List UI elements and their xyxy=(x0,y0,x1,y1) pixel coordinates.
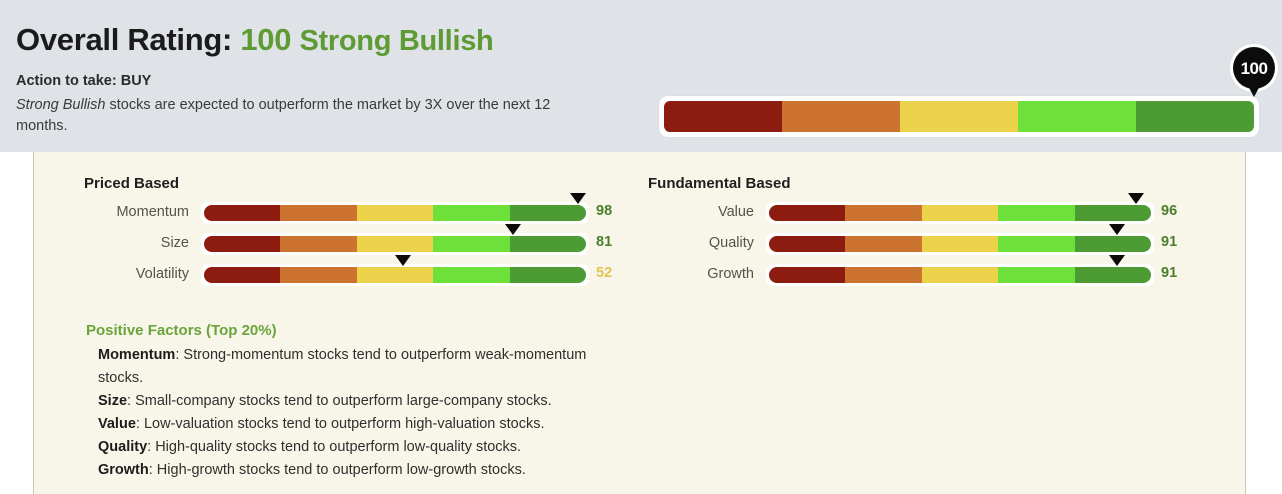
gauge-segment-1 xyxy=(664,101,782,132)
overall-gauge-track xyxy=(664,101,1254,132)
overall-rating-gauge: 100 xyxy=(659,96,1259,137)
rating-description: Strong Bullish stocks are expected to ou… xyxy=(16,95,576,137)
fundamental-based-section-title: Fundamental Based xyxy=(648,175,791,192)
header-band: Overall Rating: 100 Strong Bullish Actio… xyxy=(0,0,1282,152)
factor-bar-value xyxy=(769,205,1151,221)
factor-segment-4 xyxy=(433,236,509,252)
factor-segment-4 xyxy=(998,205,1074,221)
positive-factor-name: Quality xyxy=(98,439,147,455)
factor-segment-5 xyxy=(1075,205,1151,221)
rating-panel: Overall Rating: 100 Strong Bullish Actio… xyxy=(0,0,1282,494)
overall-rating-prefix: Overall Rating: xyxy=(16,22,232,57)
factor-bar-growth xyxy=(769,267,1151,283)
positive-factors-list: Momentum: Strong-momentum stocks tend to… xyxy=(86,344,626,482)
positive-factor-item: Momentum: Strong-momentum stocks tend to… xyxy=(86,344,626,390)
title-block: Overall Rating: 100 Strong Bullish Actio… xyxy=(16,20,636,137)
factor-segment-5 xyxy=(510,267,586,283)
factor-label-value: Value xyxy=(718,204,754,220)
factor-segment-5 xyxy=(510,236,586,252)
action-to-take: Action to take: BUY xyxy=(16,71,636,91)
factor-segment-2 xyxy=(845,236,921,252)
factor-segment-3 xyxy=(922,267,998,283)
factor-segment-1 xyxy=(769,267,845,283)
positive-factor-text: : High-quality stocks tend to outperform… xyxy=(147,439,521,455)
factor-segment-3 xyxy=(357,267,433,283)
body-panel: Priced Based Fundamental Based Momentum9… xyxy=(33,152,1246,494)
factor-row: Volatility52 xyxy=(64,264,659,288)
factor-segment-4 xyxy=(433,205,509,221)
factor-score-size: 81 xyxy=(596,234,612,250)
positive-factor-item: Value: Low-valuation stocks tend to outp… xyxy=(86,413,626,436)
positive-factor-text: : High-growth stocks tend to outperform … xyxy=(149,462,526,478)
factor-score-volatility: 52 xyxy=(596,265,612,281)
factor-marker-value xyxy=(1128,193,1144,204)
positive-factor-item: Size: Small-company stocks tend to outpe… xyxy=(86,390,626,413)
priced-based-section-title: Priced Based xyxy=(84,175,179,192)
factor-segment-2 xyxy=(280,205,356,221)
factor-segment-3 xyxy=(922,205,998,221)
positive-factor-item: Quality: High-quality stocks tend to out… xyxy=(86,436,626,459)
factor-segment-4 xyxy=(433,267,509,283)
positive-factors-title: Positive Factors (Top 20%) xyxy=(86,322,626,339)
positive-factor-name: Size xyxy=(98,393,127,409)
badge-disc: 100 xyxy=(1233,47,1275,89)
factor-score-growth: 91 xyxy=(1161,265,1177,281)
factor-row: Quality91 xyxy=(629,233,1224,257)
factor-score-momentum: 98 xyxy=(596,203,612,219)
factor-row: Momentum98 xyxy=(64,202,659,226)
factor-row: Value96 xyxy=(629,202,1224,226)
gauge-segment-3 xyxy=(900,101,1018,132)
factor-segment-2 xyxy=(845,205,921,221)
factor-label-quality: Quality xyxy=(709,235,754,251)
factor-label-growth: Growth xyxy=(707,266,754,282)
factor-bar-volatility xyxy=(204,267,586,283)
positive-factor-name: Growth xyxy=(98,462,149,478)
factor-marker-growth xyxy=(1109,255,1125,266)
factor-label-size: Size xyxy=(161,235,189,251)
factor-segment-2 xyxy=(845,267,921,283)
overall-rating-label: Strong Bullish xyxy=(299,25,493,57)
factor-segment-3 xyxy=(357,205,433,221)
factor-segment-2 xyxy=(280,236,356,252)
positive-factors-block: Positive Factors (Top 20%) Momentum: Str… xyxy=(86,322,626,482)
positive-factor-text: : Small-company stocks tend to outperfor… xyxy=(127,393,552,409)
factor-bar-momentum xyxy=(204,205,586,221)
factor-row: Size81 xyxy=(64,233,659,257)
factor-segment-4 xyxy=(998,236,1074,252)
rating-description-emphasis: Strong Bullish xyxy=(16,97,105,113)
factor-segment-3 xyxy=(357,236,433,252)
factor-bar-quality xyxy=(769,236,1151,252)
gauge-segment-5 xyxy=(1136,101,1254,132)
factor-segment-1 xyxy=(769,236,845,252)
factor-segment-5 xyxy=(1075,236,1151,252)
positive-factor-item: Growth: High-growth stocks tend to outpe… xyxy=(86,459,626,482)
factor-marker-momentum xyxy=(570,193,586,204)
factor-label-volatility: Volatility xyxy=(136,266,189,282)
factor-score-value: 96 xyxy=(1161,203,1177,219)
gauge-segment-2 xyxy=(782,101,900,132)
factor-marker-volatility xyxy=(395,255,411,266)
factor-marker-size xyxy=(505,224,521,235)
overall-score-badge: 100 xyxy=(1230,44,1278,102)
factor-segment-5 xyxy=(1075,267,1151,283)
factor-segment-4 xyxy=(998,267,1074,283)
badge-value: 100 xyxy=(1241,60,1268,77)
factor-segment-2 xyxy=(280,267,356,283)
factor-score-quality: 91 xyxy=(1161,234,1177,250)
gauge-segment-4 xyxy=(1018,101,1136,132)
factor-segment-1 xyxy=(769,205,845,221)
factor-segment-1 xyxy=(204,205,280,221)
factor-marker-quality xyxy=(1109,224,1125,235)
factor-segment-1 xyxy=(204,267,280,283)
positive-factor-name: Momentum xyxy=(98,347,175,363)
factor-label-momentum: Momentum xyxy=(116,204,189,220)
factor-bar-size xyxy=(204,236,586,252)
factor-segment-3 xyxy=(922,236,998,252)
positive-factor-text: : Low-valuation stocks tend to outperfor… xyxy=(136,416,545,432)
factor-segment-1 xyxy=(204,236,280,252)
page-title: Overall Rating: 100 Strong Bullish xyxy=(16,20,636,61)
overall-rating-score: 100 xyxy=(240,22,291,57)
factor-segment-5 xyxy=(510,205,586,221)
positive-factor-name: Value xyxy=(98,416,136,432)
factor-row: Growth91 xyxy=(629,264,1224,288)
